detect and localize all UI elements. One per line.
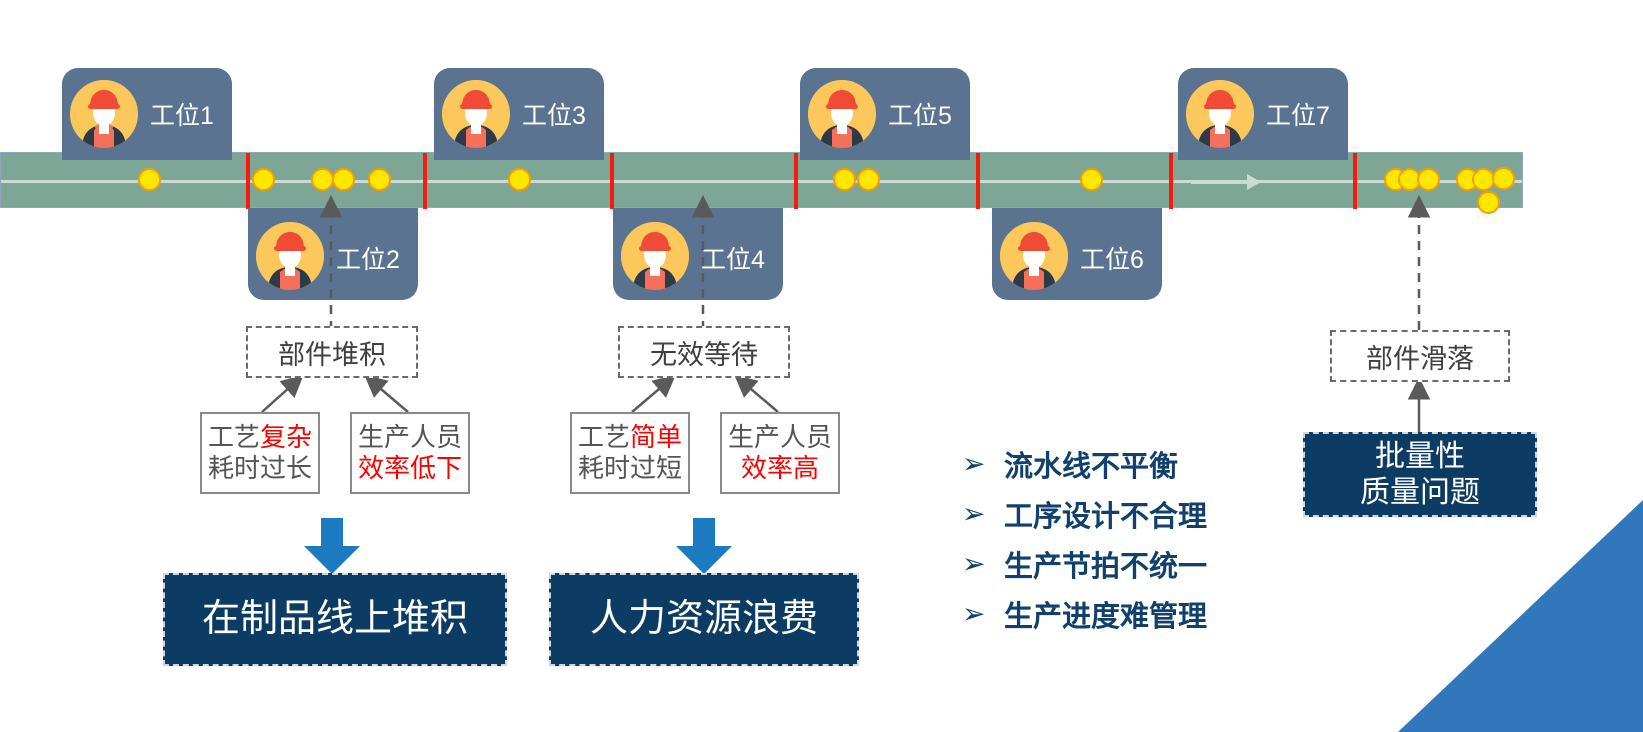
- problem-box-waiting: 无效等待: [618, 326, 790, 378]
- station-label: 工位6: [1080, 240, 1144, 276]
- down-arrow-icon: [672, 518, 736, 574]
- right-arrow-icon: [1191, 173, 1261, 191]
- belt-divider: [1169, 153, 1173, 209]
- part-dot: [138, 168, 161, 191]
- list-item-label: 工序设计不合理: [1004, 493, 1207, 535]
- cause-line-1: 工艺复杂: [208, 422, 312, 453]
- cause-text-plain: 耗时过长: [208, 453, 312, 483]
- conveyor-belt: [0, 152, 1523, 208]
- cause-text-plain: 生产人员: [728, 422, 832, 452]
- cause-text-plain: 工艺: [208, 422, 260, 452]
- bullet-arrow-icon: ➢: [962, 600, 1004, 628]
- part-dot: [332, 168, 355, 191]
- cause-line-1: 工艺简单: [578, 422, 682, 453]
- station-label: 工位2: [336, 240, 400, 276]
- station-card-6[interactable]: 工位6: [992, 208, 1162, 300]
- part-dot: [857, 168, 880, 191]
- station-label: 工位1: [150, 96, 214, 132]
- part-dot: [1080, 168, 1103, 191]
- list-item[interactable]: ➢ 工序设计不合理: [962, 490, 1292, 538]
- cause-text-plain: 工艺: [578, 422, 630, 452]
- part-dot-falling: [1492, 167, 1515, 190]
- cause-line-2: 耗时过短: [578, 453, 682, 484]
- part-dot: [252, 168, 275, 191]
- station-label: 工位5: [888, 96, 952, 132]
- cause-text-highlight: 复杂: [260, 422, 312, 452]
- part-dot: [368, 168, 391, 191]
- worker-avatar-icon: [442, 80, 510, 148]
- cause-box-process-complex: 工艺复杂 耗时过长: [200, 412, 320, 494]
- cause-box-worker-high-efficiency: 生产人员 效率高: [720, 412, 840, 494]
- station-label: 工位7: [1266, 96, 1330, 132]
- bullet-arrow-icon: ➢: [962, 550, 1004, 578]
- station-card-2[interactable]: 工位2: [248, 208, 418, 300]
- part-dot: [508, 168, 531, 191]
- link-cause4-to-waiting: [738, 378, 778, 412]
- worker-avatar-icon: [808, 80, 876, 148]
- list-item-label: 流水线不平衡: [1004, 443, 1178, 485]
- link-cause3-to-waiting: [632, 378, 672, 412]
- list-item-label: 生产节拍不统一: [1004, 543, 1207, 585]
- bullet-arrow-icon: ➢: [962, 500, 1004, 528]
- cause-line-1: 生产人员: [728, 422, 832, 453]
- cause-text-plain: 耗时过短: [578, 453, 682, 483]
- station-card-3[interactable]: 工位3: [434, 68, 604, 160]
- station-card-4[interactable]: 工位4: [613, 208, 783, 300]
- conclusion-list: ➢ 流水线不平衡 ➢ 工序设计不合理 ➢ 生产节拍不统一 ➢ 生产进度难管理: [962, 440, 1292, 640]
- worker-avatar-icon: [621, 222, 689, 290]
- station-card-5[interactable]: 工位5: [800, 68, 970, 160]
- result-line-1: 批量性: [1375, 439, 1465, 475]
- down-arrow-icon: [300, 518, 364, 574]
- cause-box-worker-low-efficiency: 生产人员 效率低下: [350, 412, 470, 494]
- cause-text-highlight: 效率低下: [358, 453, 462, 483]
- station-label: 工位3: [522, 96, 586, 132]
- cause-line-1: 生产人员: [358, 422, 462, 453]
- list-item-label: 生产进度难管理: [1004, 593, 1207, 635]
- worker-avatar-icon: [70, 80, 138, 148]
- link-cause2-to-accumulation: [368, 378, 408, 412]
- cause-text-plain: 生产人员: [358, 422, 462, 452]
- result-box-manpower-waste: 人力资源浪费: [549, 573, 859, 666]
- cause-text-highlight: 简单: [630, 422, 682, 452]
- worker-avatar-icon: [1000, 222, 1068, 290]
- problem-box-accumulation: 部件堆积: [246, 326, 418, 378]
- result-box-wip-accumulation: 在制品线上堆积: [163, 573, 507, 666]
- worker-avatar-icon: [256, 222, 324, 290]
- part-dot: [311, 168, 334, 191]
- part-dot: [833, 168, 856, 191]
- station-card-7[interactable]: 工位7: [1178, 68, 1348, 160]
- belt-divider: [246, 153, 250, 209]
- worker-avatar-icon: [1186, 80, 1254, 148]
- belt-divider: [794, 153, 798, 209]
- list-item[interactable]: ➢ 生产节拍不统一: [962, 540, 1292, 588]
- cause-box-process-simple: 工艺简单 耗时过短: [570, 412, 690, 494]
- cause-line-2: 效率高: [741, 453, 819, 484]
- part-dot: [1417, 168, 1440, 191]
- station-label: 工位4: [701, 240, 765, 276]
- belt-divider: [1353, 153, 1357, 209]
- belt-divider: [610, 153, 614, 209]
- cause-line-2: 耗时过长: [208, 453, 312, 484]
- problem-box-slipoff: 部件滑落: [1330, 330, 1510, 382]
- belt-divider: [976, 153, 980, 209]
- corner-triangle-decoration: [1398, 500, 1643, 732]
- bullet-arrow-icon: ➢: [962, 450, 1004, 478]
- list-item[interactable]: ➢ 生产进度难管理: [962, 590, 1292, 638]
- cause-text-highlight: 效率高: [741, 453, 819, 483]
- link-cause1-to-accumulation: [262, 378, 300, 412]
- cause-line-2: 效率低下: [358, 453, 462, 484]
- belt-divider: [423, 153, 427, 209]
- station-card-1[interactable]: 工位1: [62, 68, 232, 160]
- list-item[interactable]: ➢ 流水线不平衡: [962, 440, 1292, 488]
- slide-canvas: 工位1 工位2: [0, 0, 1643, 732]
- belt-centerline: [1, 180, 1522, 183]
- part-dot-falling: [1477, 191, 1500, 214]
